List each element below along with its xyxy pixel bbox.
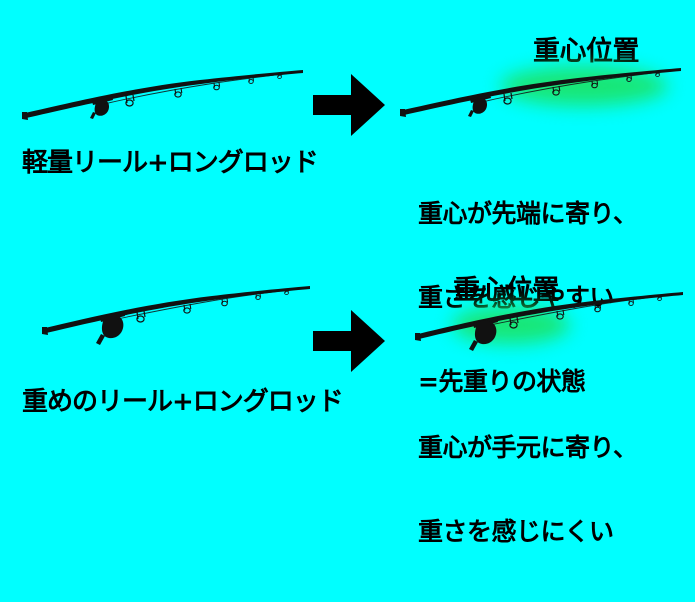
right-arrow-icon-bottom	[313, 310, 385, 372]
rod-illustration-bottom-left	[0, 240, 348, 460]
description-line: 重さを感じにくい	[418, 518, 638, 546]
caption-top-left: 軽量リール+ロングロッド	[22, 150, 318, 178]
diagram-canvas: 軽量リール+ロングロッド 重心位置 重	[0, 0, 695, 460]
caption-bottom-left: 重めのリール+ロングロッド	[22, 389, 343, 417]
fishing-rod-heavy-reel-icon	[0, 240, 348, 460]
fishing-rod-light-reel-icon	[0, 0, 348, 230]
rod-illustration-top-left	[0, 0, 348, 230]
description-line: 重心が手元に寄り、	[418, 434, 638, 462]
description-bottom-right: 重心が手元に寄り、 重さを感じにくい	[418, 378, 638, 602]
description-line: 重心が先端に寄り、	[418, 200, 638, 228]
right-arrow-icon-top	[313, 74, 385, 136]
